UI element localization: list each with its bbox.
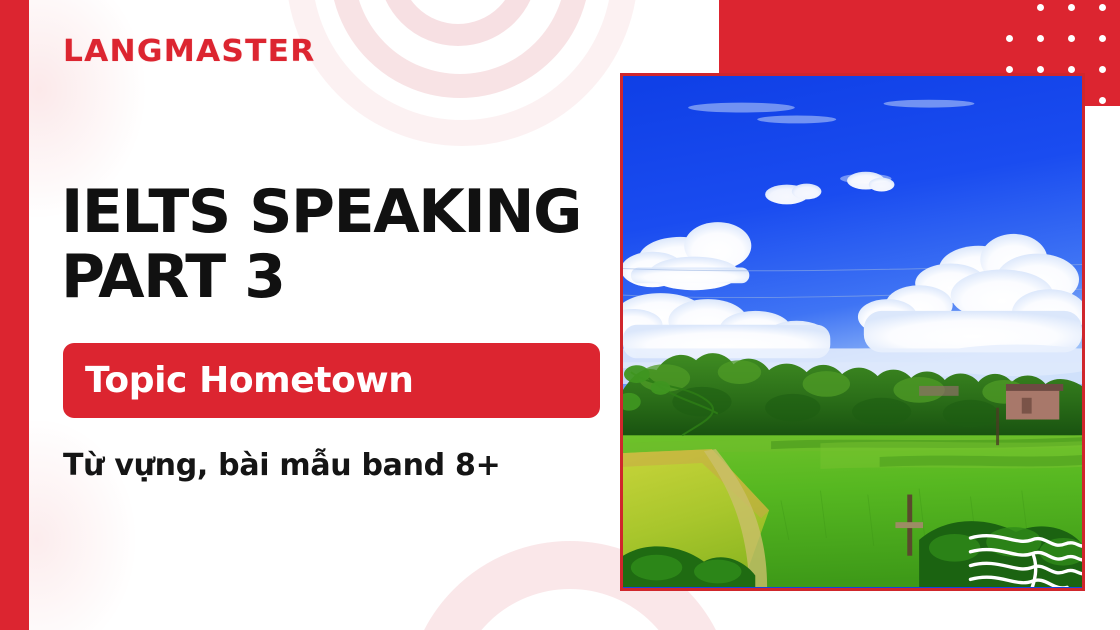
ring-outer xyxy=(286,0,638,146)
ring-inner xyxy=(378,0,538,46)
hero-photo-frame xyxy=(620,73,1085,591)
subtitle: Từ vựng, bài mẫu band 8+ xyxy=(63,448,500,483)
left-red-rail xyxy=(0,0,29,630)
concentric-rings-decoration xyxy=(286,0,586,94)
top-right-red-block xyxy=(719,0,1120,73)
topic-banner: Topic Hometown xyxy=(63,343,600,418)
page-title: IELTS SPEAKING PART 3 xyxy=(61,180,661,310)
background-glow-left xyxy=(29,0,259,630)
hero-photo xyxy=(623,76,1082,587)
langmaster-logo: LANGMASTER xyxy=(63,34,316,69)
slide-canvas: LANGMASTER IELTS SPEAKING PART 3 Topic H… xyxy=(0,0,1120,630)
topic-banner-label: Topic Hometown xyxy=(63,360,414,401)
ring-middle xyxy=(330,0,590,98)
top-right-red-tail xyxy=(1082,73,1120,106)
